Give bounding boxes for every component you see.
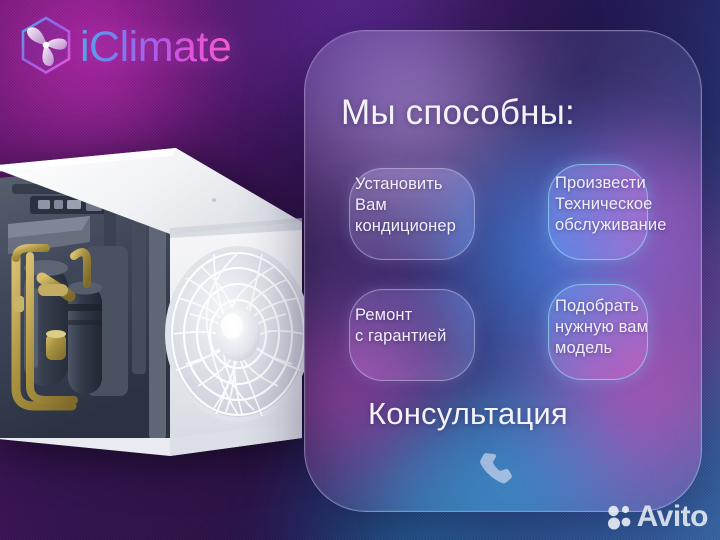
phone-handset-icon: [475, 449, 519, 493]
service-label-install: Установить Вам кондиционер: [355, 174, 555, 237]
air-conditioner-outdoor-unit-cutaway: [0, 138, 304, 460]
brand-logo: iClimate: [16, 14, 231, 80]
avito-watermark: Avito: [606, 502, 708, 532]
card-title: Мы способны:: [341, 93, 575, 133]
hexagon-fan-icon: [16, 14, 76, 80]
service-label-repair: Ремонт с гарантией: [355, 305, 555, 347]
service-label-selection: Подобрать нужную вам модель: [555, 296, 702, 359]
consultation-title: Консультация: [368, 396, 568, 432]
avito-dots-icon: [606, 504, 632, 530]
promo-banner: iClimate: [0, 0, 720, 540]
avito-label: Avito: [637, 502, 708, 532]
brand-name: iClimate: [80, 26, 231, 69]
service-label-maintenance: Произвести Техническое обслуживание: [555, 173, 702, 236]
services-card: Мы способны: Установить Вам кондиционер …: [304, 30, 702, 512]
